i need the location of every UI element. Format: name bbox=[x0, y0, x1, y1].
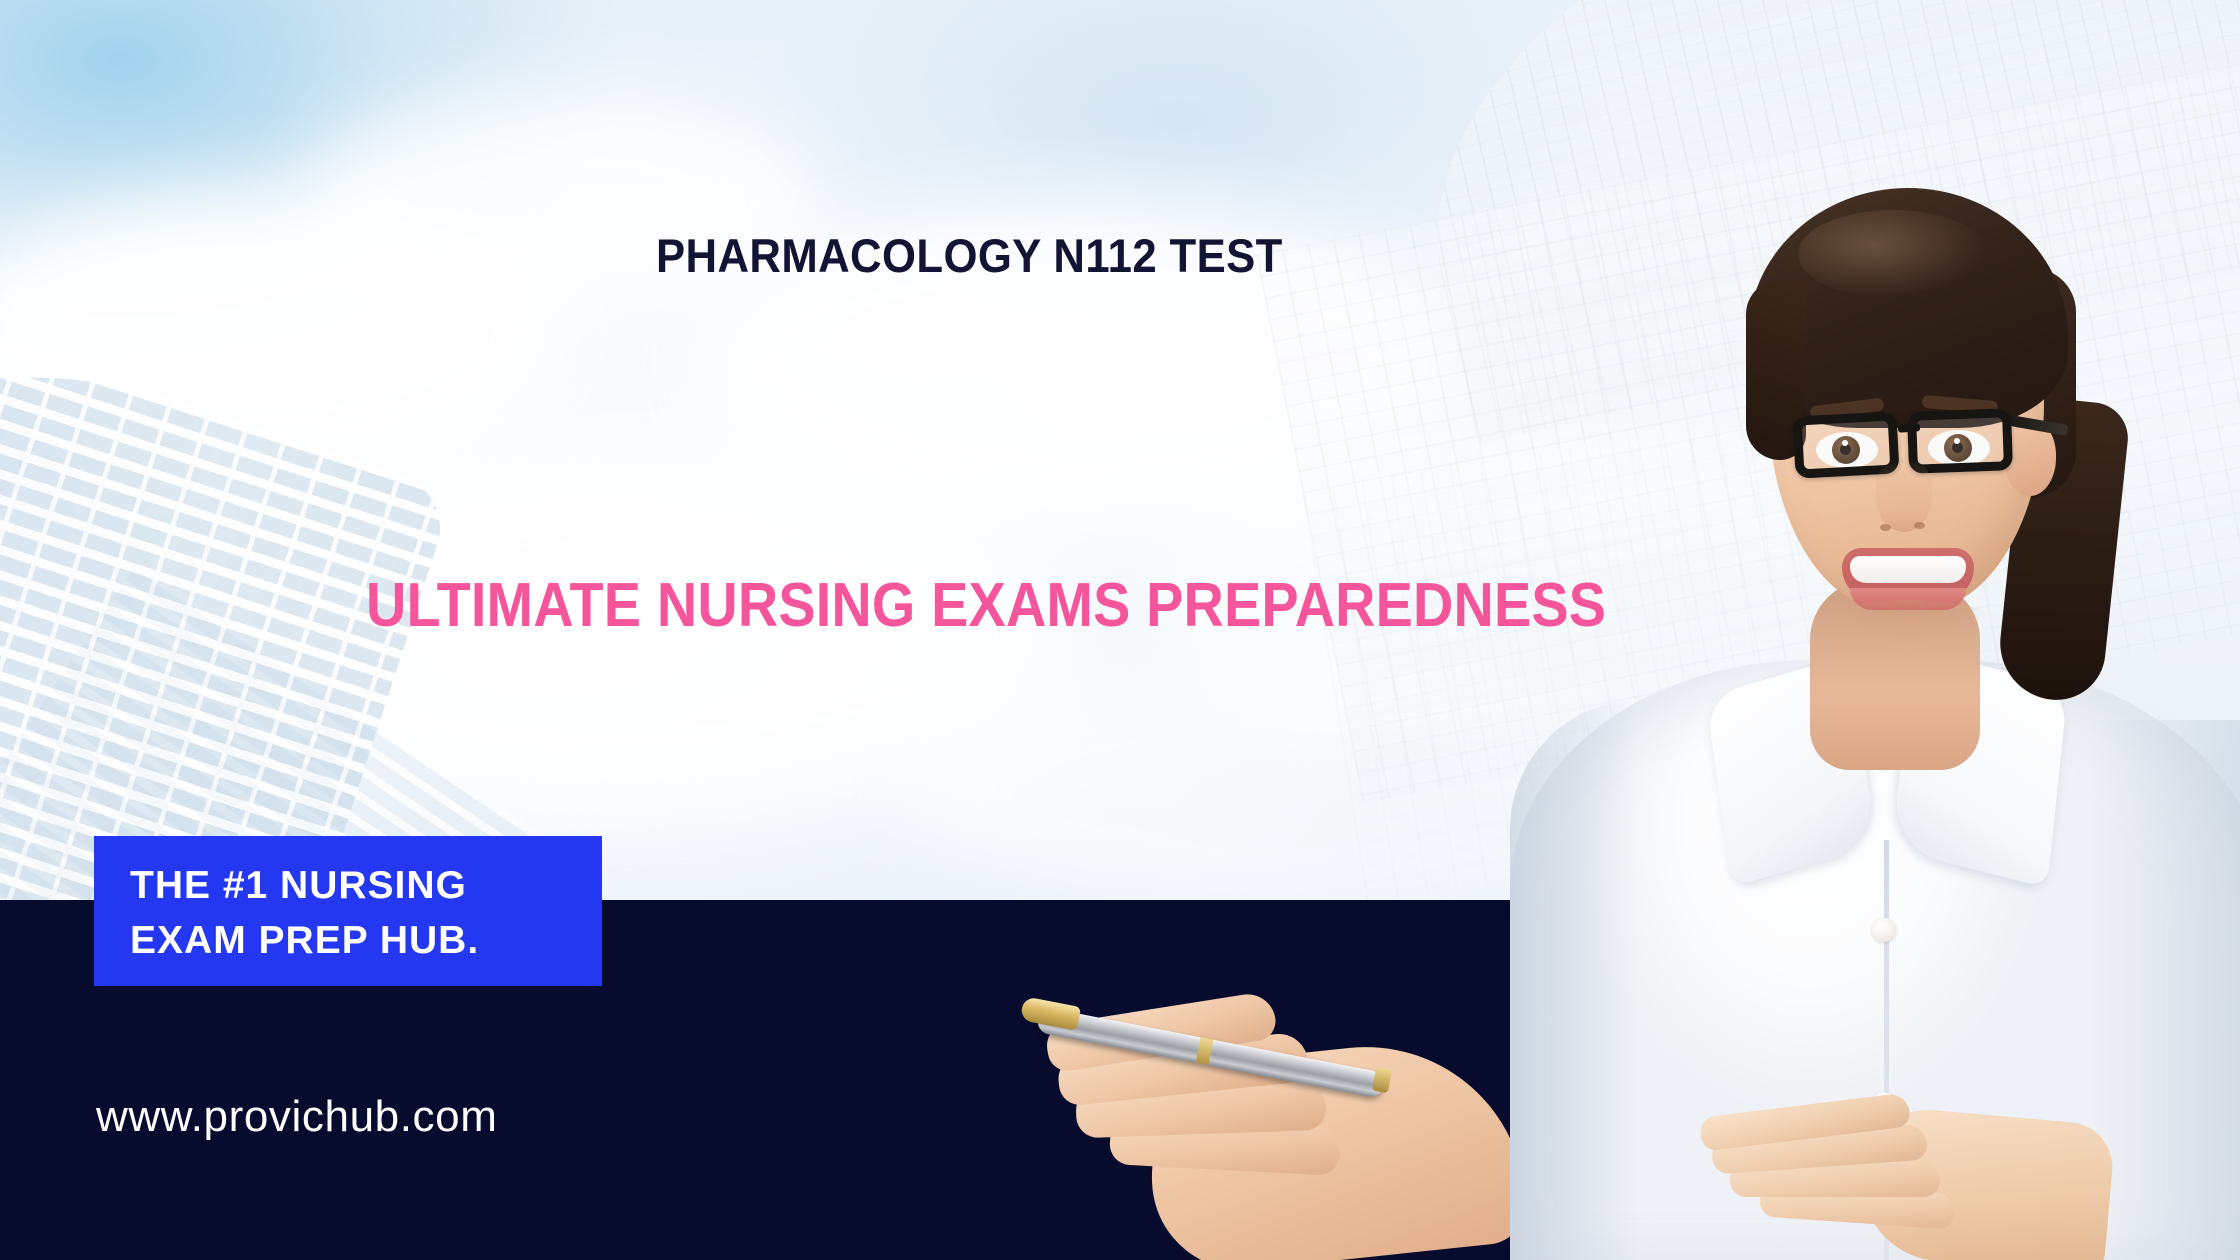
hair-highlight bbox=[1798, 210, 1988, 298]
shirt-shadow-right bbox=[2090, 720, 2240, 1260]
nose bbox=[1876, 460, 1932, 532]
open-palm-hand bbox=[1690, 1075, 2110, 1260]
pen-gold-tip bbox=[1020, 996, 1082, 1031]
nostril-right bbox=[1914, 522, 1925, 529]
website-url[interactable]: www.provichub.com bbox=[96, 1092, 497, 1142]
main-headline: ULTIMATE NURSING EXAMS PREPAREDNESS bbox=[366, 570, 1606, 641]
tagline-line-2: EXAM PREP HUB. bbox=[130, 913, 602, 968]
tagline-line-1: THE #1 NURSING bbox=[130, 858, 602, 913]
course-title-kicker: PHARMACOLOGY N112 TEST bbox=[656, 228, 1283, 283]
hand-holding-pen bbox=[1000, 980, 1520, 1260]
chin-shading bbox=[1820, 600, 1996, 642]
cloud-puff bbox=[300, 90, 820, 320]
teeth bbox=[1850, 556, 1966, 583]
tagline-badge: THE #1 NURSING EXAM PREP HUB. bbox=[94, 836, 602, 986]
shirt-button bbox=[1872, 918, 1896, 942]
eyeglasses-bridge bbox=[1898, 423, 1921, 433]
eyeglasses-lens-right bbox=[1907, 408, 2013, 474]
nostril-left bbox=[1880, 524, 1891, 531]
shirt-shadow-left bbox=[1510, 700, 1640, 1260]
promo-banner: PHARMACOLOGY N112 TEST ULTIMATE NURSING … bbox=[0, 0, 2240, 1260]
